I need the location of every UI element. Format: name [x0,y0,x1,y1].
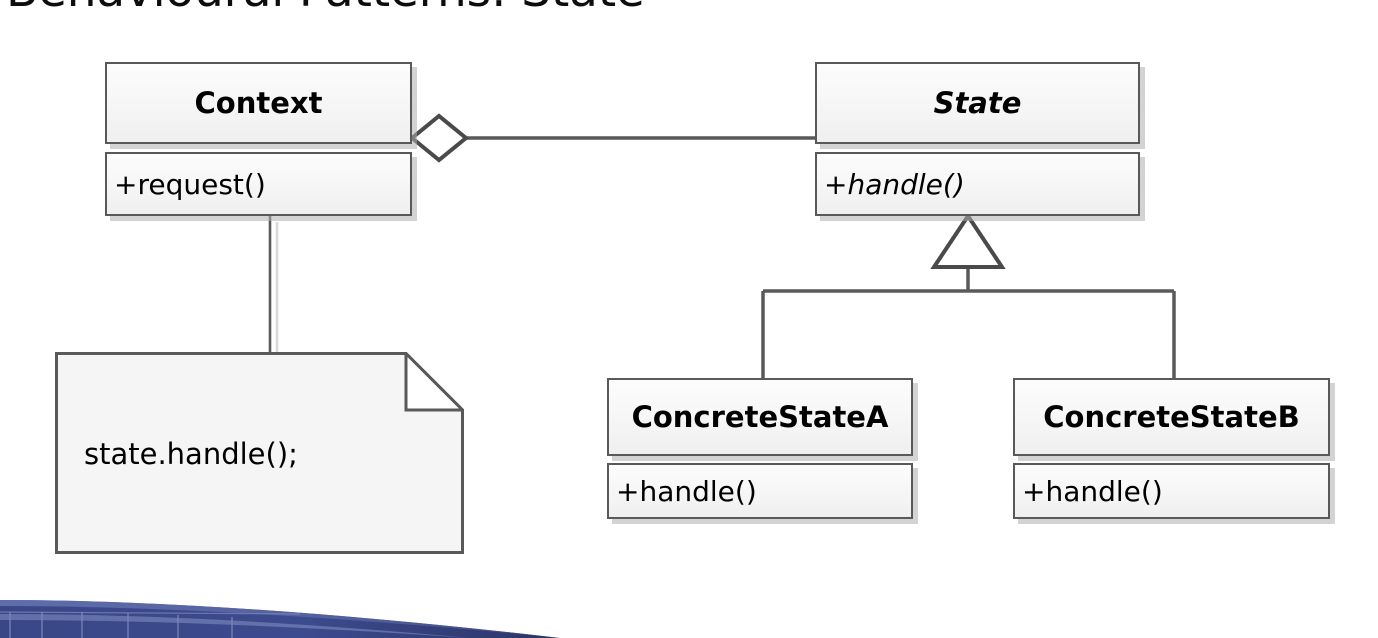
class-box-context-operations[interactable]: +request() [105,152,412,216]
page-title: Behavioural Patterns: State [6,0,645,18]
class-box-concrete-state-b-header[interactable]: ConcreteStateB [1013,378,1330,456]
class-box-concrete-state-a-header[interactable]: ConcreteStateA [607,378,913,456]
class-box-concrete-state-b-operations[interactable]: +handle() [1013,463,1330,519]
note-fold-corner [406,354,463,411]
operation-state-handle: +handle() [817,168,965,201]
class-name-context: Context [195,86,323,120]
operation-concrete-state-b-handle: +handle() [1015,475,1163,508]
class-box-concrete-state-a-operations[interactable]: +handle() [607,463,913,519]
class-name-concrete-state-a: ConcreteStateA [632,400,889,434]
class-box-state-header[interactable]: State [815,62,1140,144]
slide-canvas: Behavioural Patterns: State Context +req… [0,0,1378,638]
class-box-state-operations[interactable]: +handle() [815,152,1140,216]
class-name-concrete-state-b: ConcreteStateB [1043,400,1300,434]
operation-context-request: +request() [107,168,266,201]
class-box-context-header[interactable]: Context [105,62,412,144]
footer-decoration [0,592,560,638]
generalization-triangle [934,216,1002,267]
aggregation-diamond [412,116,466,160]
class-name-state: State [934,86,1022,120]
note-text: state.handle(); [84,437,298,471]
operation-concrete-state-a-handle: +handle() [609,475,757,508]
